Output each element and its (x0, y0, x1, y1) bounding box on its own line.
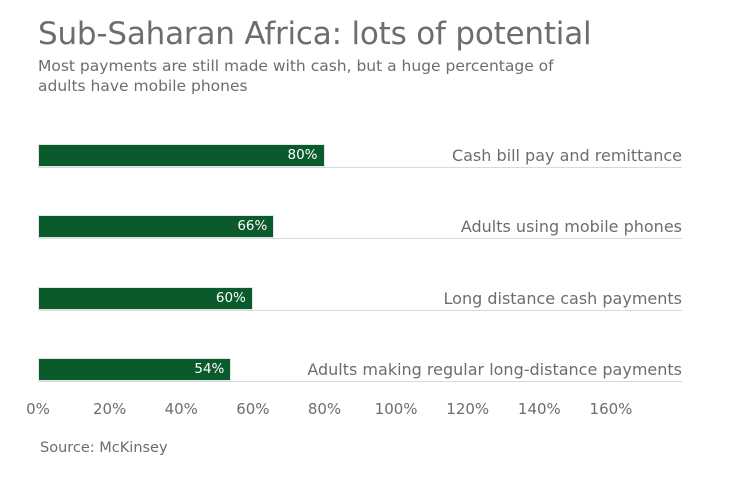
chart-header: Sub-Saharan Africa: lots of potential Mo… (38, 14, 698, 96)
bar-category-label: Long distance cash payments (444, 288, 682, 309)
bar-baseline (38, 381, 682, 382)
bar-category-label: Adults making regular long-distance paym… (307, 359, 682, 380)
bar-row: 54%Adults making regular long-distance p… (0, 358, 740, 382)
bar-baseline (38, 167, 682, 168)
bar-baseline (38, 310, 682, 311)
bar-category-label: Adults using mobile phones (461, 216, 682, 237)
bar-row: 60%Long distance cash payments (0, 287, 740, 311)
x-axis-tick-label: 160% (590, 398, 633, 420)
chart-plot-area: 80%Cash bill pay and remittance66%Adults… (0, 132, 740, 394)
bar-baseline (38, 238, 682, 239)
bar-value-label: 80% (38, 147, 325, 164)
x-axis-tick-label: 100% (375, 398, 418, 420)
x-axis-tick-label: 20% (93, 398, 126, 420)
x-axis: 0%20%40%60%80%100%120%140%160% (0, 398, 740, 422)
bar-value-label: 54% (38, 361, 231, 378)
bar-value-label: 60% (38, 290, 253, 307)
bar-row: 66%Adults using mobile phones (0, 215, 740, 239)
page-title: Sub-Saharan Africa: lots of potential (38, 14, 698, 54)
bar-value-label: 66% (38, 218, 274, 235)
x-axis-tick-label: 80% (308, 398, 341, 420)
chart-subtitle: Most payments are still made with cash, … (38, 56, 598, 96)
x-axis-tick-label: 0% (26, 398, 50, 420)
bar-category-label: Cash bill pay and remittance (452, 145, 682, 166)
x-axis-tick-label: 120% (446, 398, 489, 420)
x-axis-tick-label: 60% (236, 398, 269, 420)
x-axis-tick-label: 40% (165, 398, 198, 420)
bar-row: 80%Cash bill pay and remittance (0, 144, 740, 168)
chart-source-note: Source: McKinsey (40, 438, 168, 458)
x-axis-tick-label: 140% (518, 398, 561, 420)
